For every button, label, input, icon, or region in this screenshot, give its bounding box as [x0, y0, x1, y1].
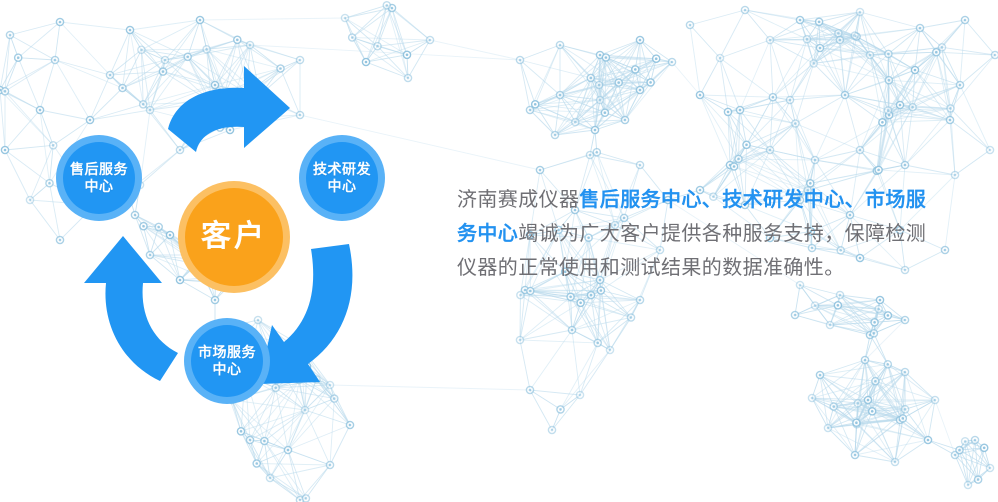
- map-node: [866, 331, 873, 338]
- map-node: [871, 319, 878, 326]
- map-node: [856, 146, 863, 153]
- map-node: [891, 458, 898, 465]
- map-node: [587, 292, 594, 299]
- map-node: [557, 406, 564, 413]
- map-node: [816, 18, 823, 25]
- map-node: [885, 77, 892, 84]
- map-node: [796, 16, 803, 23]
- node-market-line-2: 中心: [213, 361, 242, 378]
- map-node: [869, 408, 876, 415]
- map-node: [636, 161, 643, 168]
- map-node: [586, 151, 593, 158]
- map-node: [901, 368, 908, 375]
- map-node: [577, 299, 584, 306]
- map-node: [896, 416, 903, 423]
- map-node: [556, 91, 563, 98]
- map-node: [516, 336, 523, 343]
- map-node: [861, 356, 868, 363]
- map-node: [596, 51, 603, 58]
- map-node: [964, 481, 971, 488]
- map-node: [597, 287, 604, 294]
- map-node: [572, 119, 579, 126]
- map-node: [811, 302, 818, 309]
- map-node: [986, 146, 993, 153]
- map-node: [636, 296, 643, 303]
- map-node: [896, 101, 903, 108]
- map-node: [576, 391, 583, 398]
- map-node: [836, 291, 843, 298]
- description-paragraph: 济南赛成仪器售后服务中心、技术研发中心、市场服务中心竭诚为广大客户提供各种服务支…: [457, 183, 927, 285]
- map-node: [853, 419, 860, 426]
- map-node: [786, 96, 793, 103]
- map-node: [816, 44, 823, 51]
- map-node: [941, 246, 948, 253]
- map-node: [593, 149, 600, 156]
- map-node: [830, 403, 837, 410]
- map-node: [909, 104, 916, 111]
- map-node: [872, 378, 879, 385]
- map-node: [875, 305, 882, 312]
- map-node: [615, 79, 622, 86]
- map-node: [886, 112, 893, 119]
- service-cycle-diagram: 售后服务 中心 技术研发 中心 市场服务 中心 客户: [0, 0, 440, 502]
- map-node: [991, 51, 998, 58]
- map-node: [724, 108, 731, 115]
- node-customer-label: 客户: [201, 219, 267, 254]
- map-node: [951, 451, 958, 458]
- copy-segment-0: 济南赛成仪器: [457, 189, 579, 211]
- map-node: [853, 33, 860, 40]
- map-node: [853, 421, 860, 428]
- map-node: [766, 146, 773, 153]
- node-market-line-1: 市场服务: [198, 344, 256, 361]
- map-node: [567, 293, 574, 300]
- map-node: [879, 119, 886, 126]
- map-node: [981, 444, 988, 451]
- map-node: [517, 292, 524, 299]
- map-node: [696, 91, 703, 98]
- map-node: [901, 161, 908, 168]
- map-node: [668, 58, 675, 65]
- map-node: [521, 286, 528, 293]
- map-node: [933, 49, 940, 56]
- map-node: [766, 36, 773, 43]
- map-node: [632, 66, 639, 73]
- map-node: [971, 436, 978, 443]
- map-node: [726, 161, 733, 168]
- map-node: [938, 44, 945, 51]
- map-node: [653, 55, 660, 62]
- map-node: [836, 36, 843, 43]
- arrow-left-icon: [84, 236, 178, 381]
- map-node: [627, 314, 634, 321]
- map-node: [548, 426, 555, 433]
- map-node: [975, 476, 982, 483]
- node-market-service-center[interactable]: 市场服务 中心: [184, 318, 270, 404]
- map-node: [808, 394, 815, 401]
- node-rnd-line-2: 中心: [328, 178, 357, 195]
- map-node: [816, 371, 823, 378]
- node-aftersales-line-2: 中心: [85, 178, 114, 195]
- arrow-top-icon: [168, 66, 290, 152]
- map-node: [526, 386, 533, 393]
- map-node: [884, 312, 891, 319]
- map-node: [856, 8, 863, 15]
- copy-segment-2: 竭诚为广大客户提供各种服务支持，保障检测仪器的正常使用和测试结果的数据准确性。: [457, 223, 926, 279]
- map-node: [826, 321, 833, 328]
- node-aftersales-service-center[interactable]: 售后服务 中心: [56, 135, 142, 221]
- map-node: [596, 81, 603, 88]
- map-node: [568, 326, 575, 333]
- map-node: [769, 94, 776, 101]
- map-node: [870, 330, 877, 337]
- map-node: [947, 105, 954, 112]
- map-node: [811, 156, 818, 163]
- map-node: [636, 86, 643, 93]
- map-node: [596, 96, 603, 103]
- node-customer-center[interactable]: 客户: [178, 181, 290, 293]
- map-node: [731, 163, 738, 170]
- map-node: [601, 109, 608, 116]
- map-node: [516, 56, 523, 63]
- map-node: [587, 74, 594, 81]
- map-node: [602, 54, 609, 61]
- map-node: [864, 396, 871, 403]
- map-node: [636, 36, 643, 43]
- map-node: [647, 79, 654, 86]
- map-node: [743, 141, 750, 148]
- map-node: [956, 447, 963, 454]
- map-node: [902, 406, 909, 413]
- node-aftersales-line-1: 售后服务: [70, 161, 128, 178]
- map-node: [876, 296, 883, 303]
- map-node: [536, 166, 543, 173]
- map-node: [854, 400, 861, 407]
- map-node: [735, 155, 742, 162]
- map-node: [911, 66, 918, 73]
- node-rnd-line-1: 技术研发: [313, 161, 371, 178]
- map-node: [834, 302, 841, 309]
- map-node: [866, 51, 873, 58]
- map-node: [884, 361, 891, 368]
- map-node: [835, 30, 842, 37]
- map-node: [931, 396, 938, 403]
- map-node: [956, 81, 963, 88]
- map-node: [916, 24, 923, 31]
- map-node: [899, 415, 906, 422]
- map-node: [741, 6, 748, 13]
- map-node: [851, 451, 858, 458]
- map-node: [885, 50, 892, 57]
- map-node: [526, 106, 533, 113]
- map-node: [621, 116, 628, 123]
- map-node: [901, 316, 908, 323]
- map-node: [532, 101, 539, 108]
- map-node: [885, 107, 892, 114]
- map-node: [716, 54, 723, 61]
- map-node: [946, 116, 953, 123]
- map-node: [527, 287, 534, 294]
- map-node: [791, 311, 798, 318]
- map-node: [962, 438, 969, 445]
- map-node: [873, 167, 880, 174]
- map-node: [810, 60, 817, 67]
- map-node: [736, 106, 743, 113]
- map-node: [851, 32, 858, 39]
- map-node: [551, 131, 558, 138]
- map-node: [556, 41, 563, 48]
- map-node: [792, 120, 799, 127]
- map-node: [606, 346, 613, 353]
- page-root: 售后服务 中心 技术研发 中心 市场服务 中心 客户 济南赛成仪器售后服务中心、…: [0, 0, 998, 502]
- node-rnd-center[interactable]: 技术研发 中心: [299, 135, 385, 221]
- map-node: [803, 36, 810, 43]
- map-node: [924, 436, 931, 443]
- map-node: [591, 126, 598, 133]
- map-node: [961, 16, 968, 23]
- map-node: [686, 21, 693, 28]
- map-node: [841, 91, 848, 98]
- map-node: [594, 339, 601, 346]
- map-node: [824, 424, 831, 431]
- map-node: [951, 171, 958, 178]
- map-node: [986, 464, 993, 471]
- map-node: [875, 166, 882, 173]
